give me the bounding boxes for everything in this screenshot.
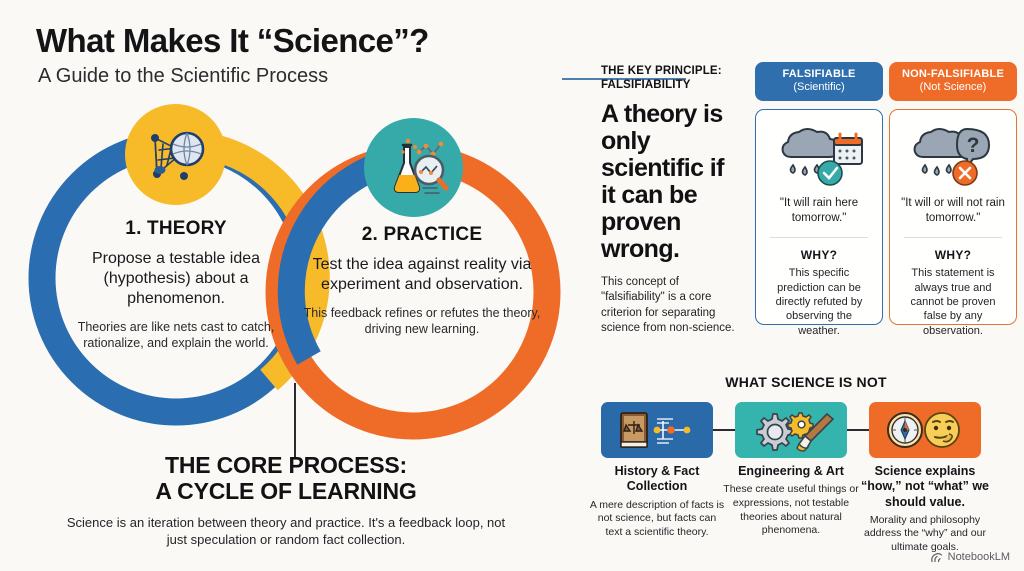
step-heading: 2. PRACTICE (302, 224, 542, 246)
net-globe-icon (125, 104, 226, 205)
principle-note: This concept of "falsifiability" is a co… (601, 275, 741, 337)
badge-subtitle: (Scientific) (759, 81, 879, 94)
step-body: Propose a testable idea (hypothesis) abo… (60, 249, 292, 309)
core-process-title: THE CORE PROCESS: A CYCLE OF LEARNING (62, 452, 510, 505)
column-heading: History & Fact Collection (589, 464, 725, 495)
principle-kicker-line-1: THE KEY PRINCIPLE: (601, 65, 722, 77)
not-science-column-engineering: Engineering & Art These create useful th… (723, 464, 859, 538)
non-falsifiable-body: ? "It will or will not rain tomorrow." W… (889, 109, 1017, 325)
gear-paintbrush-icon (735, 402, 847, 458)
comparison-card-falsifiable: FALSIFIABLE (Scientific) (755, 62, 883, 325)
what-science-is-not-title: WHAT SCIENCE IS NOT (601, 374, 1011, 390)
column-heading: Engineering & Art (723, 464, 859, 479)
page-title: What Makes It “Science”? (36, 22, 429, 60)
falsifiable-why-text: This specific prediction can be directly… (764, 266, 874, 337)
principle-statement: A theory is only scientific if it can be… (601, 101, 741, 263)
comparison-card-non-falsifiable: NON-FALSIFIABLE (Not Science) ? (889, 62, 1017, 325)
svg-text:?: ? (967, 134, 980, 157)
principle-kicker: THE KEY PRINCIPLE: FALSIFIABILITY (601, 64, 741, 93)
cycle-step-practice: 2. PRACTICE Test the idea against realit… (302, 224, 542, 338)
watermark-label: NotebookLM (948, 551, 1010, 563)
core-process-subtitle: Science is an iteration between theory a… (62, 514, 510, 549)
step-note: Theories are like nets cast to catch, ra… (60, 319, 292, 352)
falsifiable-quote: "It will rain here tomorrow." (764, 196, 874, 225)
rain-cloud-calendar-check-icon (764, 120, 874, 194)
law-book-timeline-icon (601, 402, 713, 458)
falsifiable-body: "It will rain here tomorrow." WHY? This … (755, 109, 883, 325)
non-falsifiable-badge: NON-FALSIFIABLE (Not Science) (889, 62, 1017, 101)
compass-thinking-face-icon (869, 402, 981, 458)
core-title-line-2: A CYCLE OF LEARNING (155, 478, 416, 504)
step-note: This feedback refines or refutes the the… (302, 305, 542, 338)
badge-title: FALSIFIABLE (759, 68, 879, 81)
card-divider (770, 237, 868, 238)
step-heading: 1. THEORY (60, 218, 292, 240)
column-body: These create useful things or expression… (723, 483, 859, 538)
falsifiable-badge: FALSIFIABLE (Scientific) (755, 62, 883, 101)
not-science-link-2 (847, 429, 869, 431)
non-falsifiable-quote: "It will or will not rain tomorrow." (898, 196, 1008, 225)
not-science-link-1 (713, 429, 735, 431)
principle-kicker-line-2: FALSIFIABILITY (601, 79, 691, 91)
falsifiable-why-label: WHY? (764, 248, 874, 262)
core-title-line-1: THE CORE PROCESS: (165, 452, 407, 478)
flask-magnifier-icon (364, 118, 463, 217)
badge-subtitle: (Not Science) (893, 81, 1013, 94)
column-body: Morality and philosophy address the “why… (857, 514, 993, 555)
not-science-column-history: History & Fact Collection A mere descrip… (589, 464, 725, 539)
non-falsifiable-why-label: WHY? (898, 248, 1008, 262)
rain-cloud-question-cross-icon: ? (898, 120, 1008, 194)
badge-title: NON-FALSIFIABLE (893, 68, 1013, 81)
notebooklm-watermark: NotebookLM (930, 551, 1010, 563)
card-divider (904, 237, 1002, 238)
column-body: A mere description of facts is not scien… (589, 499, 725, 540)
column-heading: Science explains “how,” not “what” we sh… (857, 464, 993, 510)
page-subtitle: A Guide to the Scientific Process (38, 65, 328, 88)
key-principle-block: THE KEY PRINCIPLE: FALSIFIABILITY A theo… (601, 64, 741, 337)
step-body: Test the idea against reality via experi… (302, 255, 542, 295)
core-process-block: THE CORE PROCESS: A CYCLE OF LEARNING Sc… (62, 452, 510, 549)
infographic-canvas: What Makes It “Science”? A Guide to the … (0, 0, 1024, 571)
notebooklm-logo-icon (930, 552, 943, 563)
cycle-connector-tick (294, 383, 296, 457)
non-falsifiable-why-text: This statement is always true and cannot… (898, 266, 1008, 337)
not-science-column-values: Science explains “how,” not “what” we sh… (857, 464, 993, 555)
cycle-step-theory: 1. THEORY Propose a testable idea (hypot… (60, 218, 292, 352)
